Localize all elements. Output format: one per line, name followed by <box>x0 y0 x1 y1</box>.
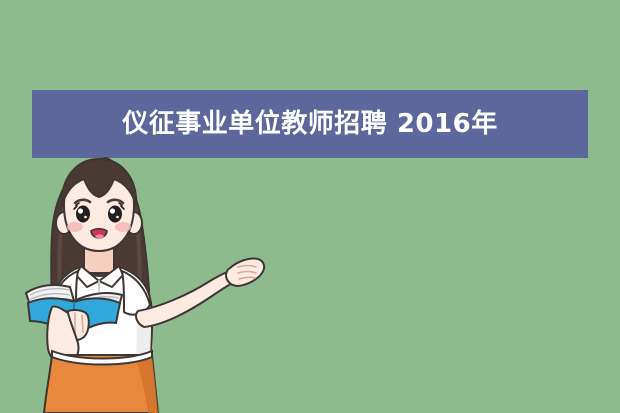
page-title: 仪征事业单位教师招聘 2016年 <box>122 111 497 137</box>
blush-right <box>115 222 131 232</box>
title-banner: 仪征事业单位教师招聘 2016年 <box>32 90 588 158</box>
blush-left <box>67 222 83 232</box>
eye-left-highlight <box>78 208 83 213</box>
poster-canvas: 仪征事业单位教师招聘 2016年 <box>0 0 620 413</box>
eye-left <box>76 206 90 223</box>
eye-left-highlight-small <box>84 216 87 219</box>
teacher-illustration <box>18 155 286 413</box>
eye-right <box>108 206 122 223</box>
eye-right-highlight <box>110 208 115 213</box>
gesturing-arm <box>136 270 240 327</box>
teacher-illustration-svg <box>18 155 286 413</box>
eye-right-highlight-small <box>116 216 119 219</box>
